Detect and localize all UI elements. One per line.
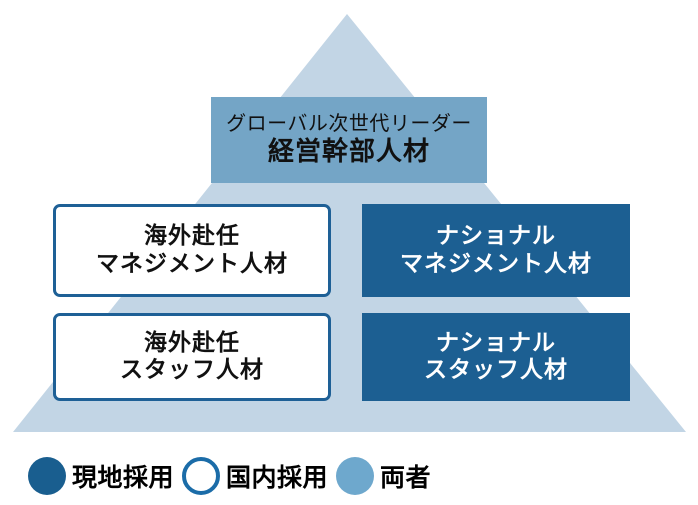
- tier-box-executive-subtitle: グローバル次世代リーダー: [226, 112, 472, 136]
- tier-box-national-management-line1: ナショナル: [436, 223, 556, 250]
- tier-box-national-staff-line2: スタッフ人材: [424, 357, 568, 384]
- legend-label-both: 両者: [380, 458, 431, 494]
- legend-label-domestic-hire: 国内採用: [226, 458, 328, 494]
- tier-box-overseas-staff-line1: 海外赴任: [144, 330, 240, 357]
- tier-box-executive-title: 経営幹部人材: [268, 137, 430, 168]
- tier-box-overseas-staff-line2: スタッフ人材: [120, 357, 264, 384]
- diagram-canvas: グローバル次世代リーダー 経営幹部人材 海外赴任 マネジメント人材 ナショナル …: [0, 0, 698, 505]
- legend-item-both[interactable]: 両者: [336, 457, 439, 495]
- legend-label-local-hire: 現地採用: [72, 458, 174, 494]
- tier-box-national-staff[interactable]: ナショナル スタッフ人材: [362, 313, 630, 401]
- legend: 現地採用 国内採用 両者: [28, 452, 439, 500]
- tier-box-overseas-management-line1: 海外赴任: [144, 223, 240, 250]
- tier-box-national-management-line2: マネジメント人材: [400, 251, 592, 278]
- filled-dark-circle-icon: [28, 457, 66, 495]
- tier-box-national-staff-line1: ナショナル: [436, 330, 556, 357]
- tier-box-overseas-staff[interactable]: 海外赴任 スタッフ人材: [53, 313, 331, 401]
- tier-box-executive[interactable]: グローバル次世代リーダー 経営幹部人材: [211, 97, 487, 183]
- legend-item-domestic-hire[interactable]: 国内採用: [182, 457, 336, 495]
- tier-box-national-management[interactable]: ナショナル マネジメント人材: [362, 204, 630, 297]
- legend-item-local-hire[interactable]: 現地採用: [28, 457, 182, 495]
- tier-box-overseas-management-line2: マネジメント人材: [96, 251, 288, 278]
- hollow-circle-icon: [182, 457, 220, 495]
- filled-light-circle-icon: [336, 457, 374, 495]
- tier-box-overseas-management[interactable]: 海外赴任 マネジメント人材: [53, 204, 331, 297]
